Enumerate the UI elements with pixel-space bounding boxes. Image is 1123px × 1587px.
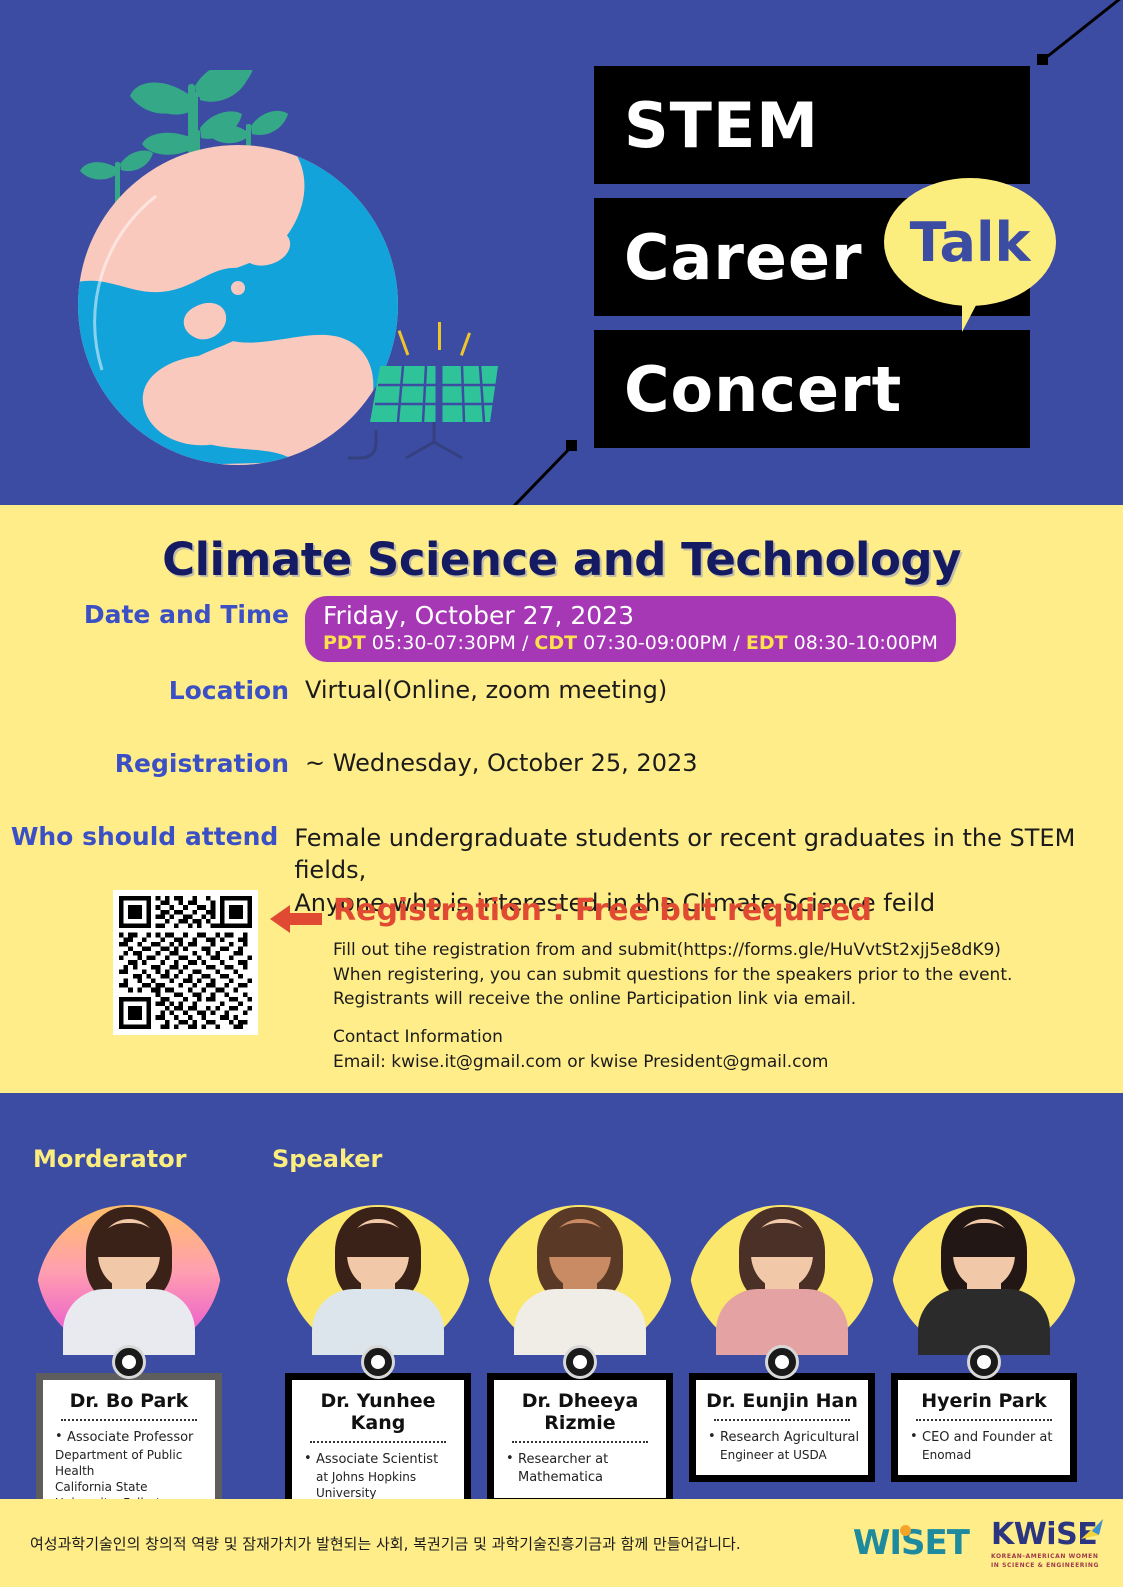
tz-cdt: CDT [534,632,577,654]
divider [714,1419,850,1421]
moderator-section-label: Morderator [33,1145,187,1173]
avatar-portrait [285,1205,471,1355]
detail-row-location: Location Virtual(Online, zoom meeting) [0,676,1123,705]
person-affiliation-1: at Johns Hopkins University [300,1469,456,1501]
event-details-section: Climate Science and Technology Date and … [0,505,1123,1093]
kwise-subtitle-1: KOREAN-AMERICAN WOMEN [991,1552,1099,1561]
tz-sep-2: / [727,632,745,654]
detail-row-registration: Registration ~ Wednesday, October 25, 20… [0,749,1123,778]
tz-edt-range: 08:30-10:00PM [788,632,938,654]
qr-code-icon[interactable] [113,890,258,1035]
person-card-speaker-4: Hyerin Park CEO and Founder at Enomad [891,1205,1077,1482]
hero-section: STEM Career Concert Talk [0,0,1123,505]
person-info-card: Dr. Dheeya Rizmie Researcher at Mathemat… [487,1373,673,1505]
speaker-section-label: Speaker [272,1145,382,1173]
avatar [487,1205,673,1355]
tz-sep-1: / [516,632,534,654]
title-bar-concert: Concert [594,330,1030,448]
divider [61,1419,197,1421]
contact-title: Contact Information [333,1025,828,1050]
avatar [891,1205,1077,1355]
person-card-moderator: Dr. Bo Park Associate Professor Departme… [36,1205,222,1530]
divider [310,1441,446,1443]
contact-info: Contact Information Email: kwise.it@gmai… [333,1025,828,1074]
avatar-portrait [891,1205,1077,1355]
tz-cdt-range: 07:30-09:00PM [577,632,727,654]
datetime-pill: Friday, October 27, 2023 PDT 05:30-07:30… [305,596,956,662]
footer-text: 여성과학기술인의 창의적 역량 및 잠재가치가 발현되는 사회, 복권기금 및 … [30,1533,853,1554]
person-card-speaker-2: Dr. Dheeya Rizmie Researcher at Mathemat… [487,1205,673,1505]
kwise-flag-icon [1079,1519,1105,1541]
tz-edt: EDT [746,632,788,654]
kwise-logo: KWiSE KOREAN-AMERICAN WOMEN IN SCIENCE &… [991,1517,1099,1570]
person-role: Research Agricultural [704,1429,860,1447]
registration-body-line-1: Fill out tihe registration from and subm… [333,938,1012,963]
wiset-dot-icon [900,1525,911,1536]
person-affiliation-1: Department of Public Health [51,1447,207,1479]
event-timezones: PDT 05:30-07:30PM / CDT 07:30-09:00PM / … [323,632,938,654]
microphone-icon [765,1345,799,1379]
person-role: Associate Scientist [300,1451,456,1469]
person-affiliation-1: Enomad [906,1447,1062,1463]
title-bar-stem: STEM [594,66,1030,184]
person-card-speaker-1: Dr. Yunhee Kang Associate Scientist at J… [285,1205,471,1520]
person-name: Dr. Bo Park [51,1390,207,1412]
person-role: CEO and Founder at [906,1429,1062,1447]
person-info-card: Dr. Eunjin Han Research Agricultural Eng… [689,1373,875,1482]
avatar [285,1205,471,1355]
kwise-subtitle-2: IN SCIENCE & ENGINEERING [991,1561,1099,1570]
avatar [36,1205,222,1355]
arrow-left-icon [270,902,322,936]
detail-label-location: Location [0,676,305,705]
details-list: Date and Time Friday, October 27, 2023 P… [0,600,1123,925]
earth-globe-icon [60,70,520,470]
person-role: Researcher at Mathematica [502,1451,658,1486]
registration-body-line-2: When registering, you can submit questio… [333,963,1012,988]
avatar-portrait [689,1205,875,1355]
avatar [689,1205,875,1355]
avatar-portrait [487,1205,673,1355]
tz-pdt: PDT [323,632,366,654]
page-title: Climate Science and Technology [0,533,1123,586]
registration-headline: Registration : Free but required [333,893,872,928]
divider [916,1419,1052,1421]
audience-line-1: Female undergraduate students or recent … [294,822,1123,887]
detail-row-datetime: Date and Time Friday, October 27, 2023 P… [0,600,1123,662]
person-affiliation-1: Engineer at USDA [704,1447,860,1463]
microphone-icon [361,1345,395,1379]
detail-value-registration: ~ Wednesday, October 25, 2023 [305,749,698,777]
registration-body-line-3: Registrants will receive the online Part… [333,987,1012,1012]
microphone-icon [967,1345,1001,1379]
wiset-logo: WISET [853,1523,969,1563]
microphone-icon [112,1345,146,1379]
person-name: Dr. Eunjin Han [704,1390,860,1412]
person-card-speaker-3: Dr. Eunjin Han Research Agricultural Eng… [689,1205,875,1482]
registration-body: Fill out tihe registration from and subm… [333,938,1012,1012]
tz-pdt-range: 05:30-07:30PM [366,632,516,654]
detail-value-location: Virtual(Online, zoom meeting) [305,676,667,704]
speech-bubble: Talk [884,178,1056,306]
person-name: Hyerin Park [906,1390,1062,1412]
person-info-card: Hyerin Park CEO and Founder at Enomad [891,1373,1077,1482]
bar-label-career: Career [594,221,863,294]
bar-label-concert: Concert [594,353,902,426]
poster-root: STEM Career Concert Talk Climate Science… [0,0,1123,1587]
footer-section: 여성과학기술인의 창의적 역량 및 잠재가치가 발현되는 사회, 복권기금 및 … [0,1499,1123,1587]
person-role: Associate Professor [51,1429,207,1447]
microphone-icon [563,1345,597,1379]
people-section: Morderator Speaker Dr. Bo Park Associate… [0,1093,1123,1499]
person-info-card: Dr. Yunhee Kang Associate Scientist at J… [285,1373,471,1520]
bar-label-stem: STEM [594,89,819,162]
detail-label-registration: Registration [0,749,305,778]
detail-label-audience: Who should attend [0,822,294,851]
event-date: Friday, October 27, 2023 [323,601,938,630]
contact-email: Email: kwise.it@gmail.com or kwise Presi… [333,1050,828,1075]
wiset-logo-text: WISET [853,1523,969,1563]
person-name: Dr. Dheeya Rizmie [502,1390,658,1434]
divider [512,1441,648,1443]
avatar-portrait [36,1205,222,1355]
bubble-label-talk: Talk [910,211,1031,274]
detail-label-datetime: Date and Time [0,600,305,629]
person-name: Dr. Yunhee Kang [300,1390,456,1434]
